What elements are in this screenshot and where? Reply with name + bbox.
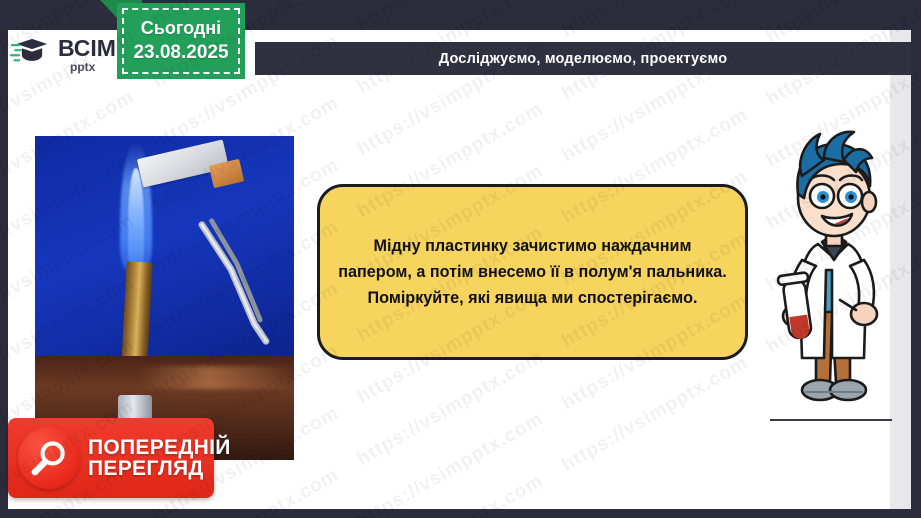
slide-header-bar: Досліджуємо, моделюємо, проектуємо [255,42,911,75]
brand-name: ВСІМ [58,37,116,60]
brand-suffix: pptx [70,61,116,73]
flame-inner-icon [128,168,144,268]
frame-right-edge [911,0,921,518]
graduation-cap-icon [10,36,54,74]
magnifier-icon [18,427,80,489]
instruction-text: Мідну пластинку зачистимо наждачним папе… [338,233,727,312]
slide-canvas: ВСІМ pptx Сьогодні 23.08.2025 Досліджуєм… [0,0,921,518]
today-date: 23.08.2025 [133,42,228,64]
brand-logo[interactable]: ВСІМ pptx [10,31,130,79]
tongs-icon [198,201,276,363]
preview-button-line1: ПОПЕРЕДНІЙ [88,437,231,458]
preview-button-line2: ПЕРЕГЛЯД [88,458,231,479]
frame-left-edge [0,0,8,518]
bunsen-burner-experiment-photo [35,136,294,460]
instruction-callout: Мідну пластинку зачистимо наждачним папе… [317,184,748,360]
today-label: Сьогодні [141,18,221,39]
today-date-badge: Сьогодні 23.08.2025 [117,3,245,79]
page-title: Досліджуємо, моделюємо, проектуємо [439,51,728,67]
photo-desk-glint [139,366,294,389]
preview-button[interactable]: ПОПЕРЕДНІЙ ПЕРЕГЛЯД [8,418,214,498]
boy-scientist-illustration [772,120,894,420]
frame-bottom-edge [0,509,921,518]
preview-button-labels: ПОПЕРЕДНІЙ ПЕРЕГЛЯД [88,437,231,480]
brand-wordmark: ВСІМ pptx [58,37,116,73]
